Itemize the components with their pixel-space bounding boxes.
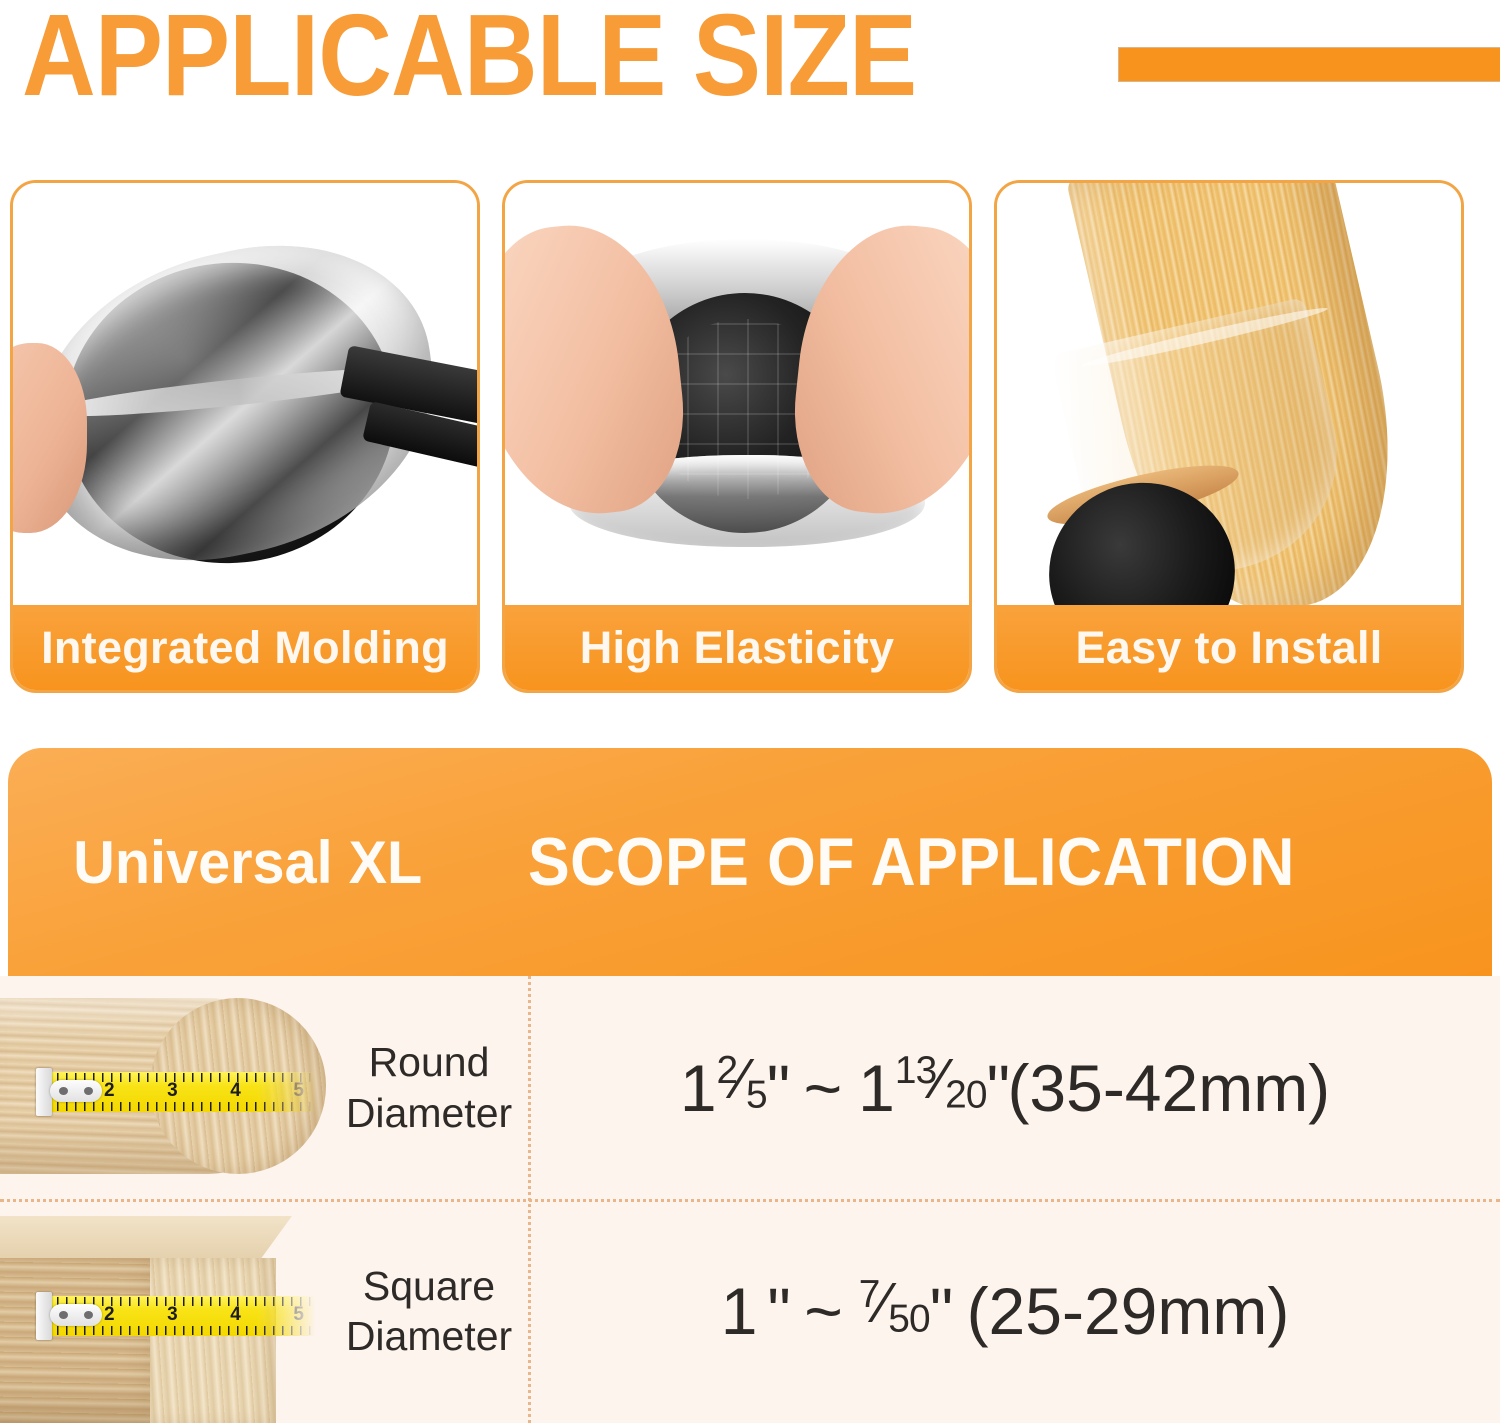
tape-number: 5 xyxy=(293,1304,304,1328)
applicable-size-infographic: APPLICABLE SIZE Integrated Molding xyxy=(0,0,1500,1423)
round-from-whole: 1 xyxy=(680,1050,717,1126)
feature-caption: Easy to Install xyxy=(997,605,1461,690)
feature-photo-easy-to-install xyxy=(997,183,1461,623)
feature-card-easy-to-install: Easy to Install xyxy=(994,180,1464,693)
spec-row-square: 2 3 4 5 Square Diameter 1"~7⁄50"(25-29mm… xyxy=(0,1199,1500,1423)
tape-number: 4 xyxy=(230,1080,241,1104)
size-name-label: Universal XL xyxy=(8,828,507,897)
inch-mark: " xyxy=(930,1273,951,1349)
tape-clip xyxy=(50,1080,102,1102)
tape-numbers: 2 3 4 5 xyxy=(104,1304,304,1328)
tape-number: 4 xyxy=(230,1304,241,1328)
spec-label-line1: Square xyxy=(330,1261,528,1311)
scope-title: SCOPE OF APPLICATION xyxy=(528,823,1415,901)
round-from-fraction: 2⁄5 xyxy=(717,1046,767,1117)
tape-number: 5 xyxy=(293,1080,304,1104)
header: APPLICABLE SIZE xyxy=(0,0,1500,160)
feature-card-high-elasticity: High Elasticity xyxy=(502,180,972,693)
feature-photo-high-elasticity xyxy=(505,183,969,623)
square-leg-side-face xyxy=(0,1258,160,1423)
inch-mark: " xyxy=(987,1050,1008,1126)
spec-label-square: Square Diameter xyxy=(330,1261,528,1361)
fraction-slash-icon: ⁄ xyxy=(737,1047,746,1111)
spec-label-line1: Round xyxy=(330,1037,528,1087)
feature-card-list: Integrated Molding High Elasticity Easy xyxy=(10,180,1490,693)
fraction-denominator: 20 xyxy=(945,1074,987,1117)
round-metric: (35-42mm) xyxy=(1007,1050,1330,1126)
fraction-denominator: 50 xyxy=(888,1297,930,1340)
spec-table: 2 3 4 5 Round Diameter 12⁄5"~113⁄20"(35-… xyxy=(0,976,1500,1423)
fraction-numerator: 2 xyxy=(717,1049,738,1092)
spec-label-line2: Diameter xyxy=(330,1088,528,1138)
fraction-slash-icon: ⁄ xyxy=(880,1271,889,1335)
header-accent-bar xyxy=(1118,47,1500,82)
square-metric: (25-29mm) xyxy=(951,1273,1290,1349)
round-to-fraction: 13⁄20 xyxy=(895,1046,987,1117)
square-leg-top-face xyxy=(0,1216,292,1260)
spec-row-round: 2 3 4 5 Round Diameter 12⁄5"~113⁄20"(35-… xyxy=(0,976,1500,1199)
range-tilde: ~ xyxy=(788,1050,859,1126)
tape-number: 2 xyxy=(104,1304,115,1328)
square-leg-illustration: 2 3 4 5 xyxy=(0,1200,330,1423)
feature-caption: Integrated Molding xyxy=(13,605,477,690)
feature-photo-integrated-molding xyxy=(13,183,477,623)
fraction-denominator: 5 xyxy=(746,1074,767,1117)
round-to-whole: 1 xyxy=(858,1050,895,1126)
feature-card-integrated-molding: Integrated Molding xyxy=(10,180,480,693)
spec-value-round: 12⁄5"~113⁄20"(35-42mm) xyxy=(528,1050,1500,1126)
tape-number: 3 xyxy=(167,1304,178,1328)
tape-numbers: 2 3 4 5 xyxy=(104,1080,304,1104)
fraction-numerator: 7 xyxy=(859,1273,880,1316)
inch-mark: " xyxy=(757,1273,788,1349)
round-leg-illustration: 2 3 4 5 xyxy=(0,976,330,1199)
spec-label-line2: Diameter xyxy=(330,1311,528,1361)
fraction-slash-icon: ⁄ xyxy=(936,1047,945,1111)
spec-value-square: 1"~7⁄50"(25-29mm) xyxy=(528,1273,1500,1349)
spec-label-round: Round Diameter xyxy=(330,1037,528,1137)
square-from-whole: 1 xyxy=(721,1273,758,1349)
square-to-fraction: 7⁄50 xyxy=(859,1270,930,1341)
range-tilde: ~ xyxy=(788,1273,859,1349)
page-title: APPLICABLE SIZE xyxy=(22,0,916,120)
tape-clip xyxy=(50,1304,102,1326)
feature-caption: High Elasticity xyxy=(505,605,969,690)
scope-banner: Universal XL SCOPE OF APPLICATION xyxy=(8,748,1492,976)
tape-number: 3 xyxy=(167,1080,178,1104)
square-leg-end-face xyxy=(150,1258,276,1423)
tape-number: 2 xyxy=(104,1080,115,1104)
fraction-numerator: 13 xyxy=(895,1049,937,1092)
inch-mark: " xyxy=(767,1050,788,1126)
